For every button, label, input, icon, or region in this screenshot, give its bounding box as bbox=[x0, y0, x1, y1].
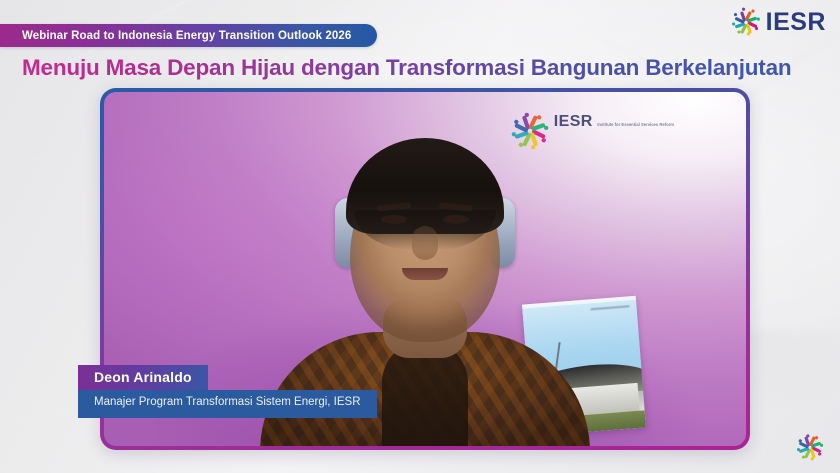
webinar-badge-label: Webinar Road to Indonesia Energy Transit… bbox=[22, 30, 351, 42]
iesr-wordmark: IESR bbox=[766, 10, 826, 35]
speaker-eye bbox=[443, 215, 469, 224]
speaker-role: Manajer Program Transformasi Sistem Ener… bbox=[78, 390, 377, 418]
speaker-nose bbox=[412, 226, 438, 260]
page-title: Menuju Masa Depan Hijau dengan Transform… bbox=[22, 55, 791, 81]
speaker-name: Deon Arinaldo bbox=[78, 365, 208, 390]
iesr-pinwheel-icon bbox=[733, 9, 759, 35]
speaker-nameplate: Deon Arinaldo Manajer Program Transforma… bbox=[78, 365, 377, 418]
speaker-mouth bbox=[402, 268, 448, 280]
iesr-pinwheel-icon bbox=[798, 435, 822, 459]
speaker-hair bbox=[346, 138, 504, 234]
speaker-eye bbox=[381, 215, 407, 224]
iesr-brand-lockup: IESR bbox=[733, 9, 826, 35]
webinar-badge: Webinar Road to Indonesia Energy Transit… bbox=[0, 24, 377, 47]
slide-stage: Webinar Road to Indonesia Energy Transit… bbox=[0, 0, 840, 473]
